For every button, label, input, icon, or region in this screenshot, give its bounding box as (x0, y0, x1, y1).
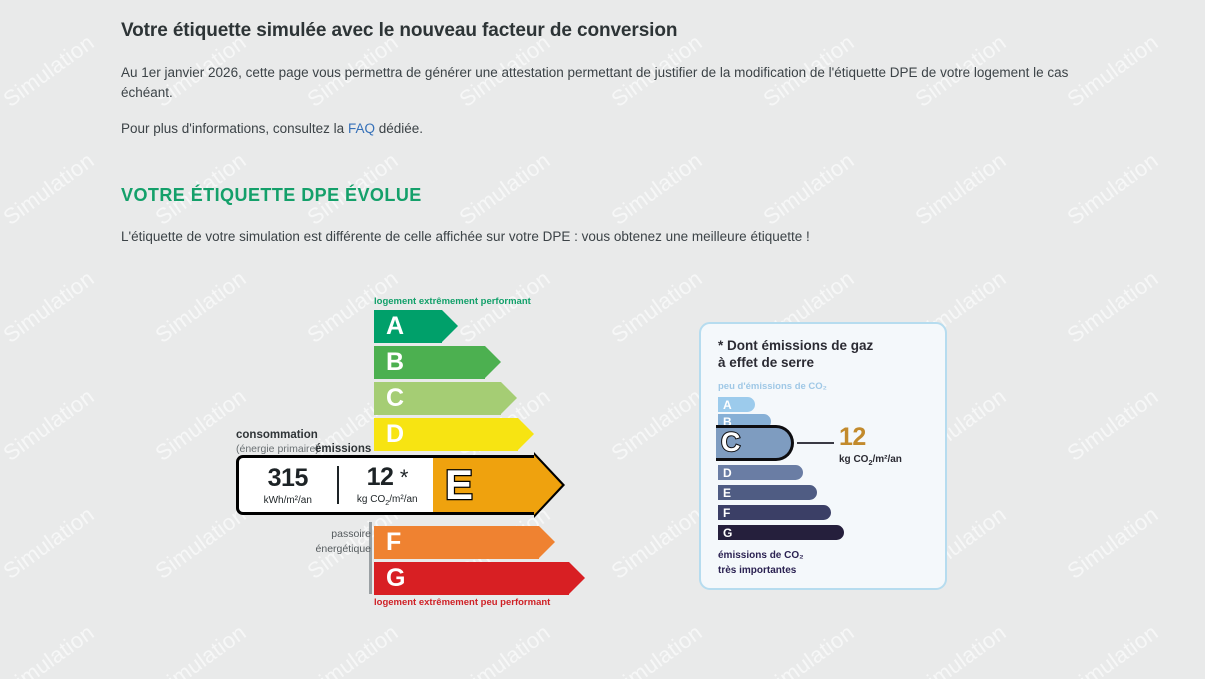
metric-consumption: 315 kWh/m²/an (239, 458, 337, 512)
dpe-energy-label: logement extrêmement performant A B C D … (231, 294, 651, 609)
text-content: Votre étiquette simulée avec le nouveau … (121, 0, 1111, 244)
co2-emissions-panel: * Dont émissions de gaz à effet de serre… (699, 322, 947, 590)
co2-unit: kg CO2/m²/an (839, 454, 902, 467)
energy-bar-f: F (374, 526, 555, 559)
label-consommation: consommation (236, 429, 318, 441)
page-title: Votre étiquette simulée avec le nouveau … (121, 20, 1111, 42)
energy-bar-e-arrow: E (433, 455, 561, 515)
consumption-unit: kWh/m²/an (264, 495, 312, 506)
passoire-line-1: passoire (293, 527, 371, 542)
section-heading: VOTRE ÉTIQUETTE DPE ÉVOLUE (121, 185, 1111, 206)
co2-bottom-note: émissions de CO₂ très importantes (718, 548, 804, 578)
metric-emissions: 12 * kg CO2/m²/an (339, 458, 437, 512)
faq-text-after: dédiée. (375, 121, 423, 136)
co2-bar-d: D (718, 465, 803, 480)
emissions-asterisk: * (400, 465, 408, 490)
energy-bar-e-highlighted: 315 kWh/m²/an 12 * kg CO2/m²/an E (236, 455, 561, 515)
energy-bar-label-f: F (386, 530, 401, 555)
co2-bar-label-f: F (723, 506, 730, 518)
energy-bar-g: G (374, 562, 585, 595)
energy-bar-b: B (374, 346, 501, 379)
co2-bar-g: G (718, 525, 844, 540)
energy-bar-a: A (374, 310, 458, 343)
co2-top-note: peu d'émissions de CO₂ (718, 381, 827, 392)
co2-leader-line (797, 442, 834, 444)
faq-paragraph: Pour plus d'informations, consultez la F… (121, 119, 1093, 139)
emissions-value: 12 * (367, 465, 408, 490)
energy-bar-label-a: A (386, 314, 404, 339)
passoire-label: passoire énergétique (293, 527, 371, 557)
co2-bar-f: F (718, 505, 831, 520)
energy-bar-label-d: D (386, 422, 404, 447)
co2-bar-a: A (718, 397, 755, 412)
scale-note-bottom: logement extrêmement peu performant (374, 597, 550, 608)
co2-value: 12 (839, 425, 866, 450)
label-emissions: émissions (315, 443, 371, 455)
energy-bar-d: D (374, 418, 534, 451)
energy-bar-c: C (374, 382, 517, 415)
faq-text-before: Pour plus d'informations, consultez la (121, 121, 348, 136)
energy-bar-label-g: G (386, 566, 405, 591)
energy-bar-label-e: E (445, 464, 473, 506)
co2-bar-label-g: G (723, 526, 732, 538)
intro-paragraph: Au 1er janvier 2026, cette page vous per… (121, 63, 1093, 103)
energy-bar-label-c: C (386, 386, 404, 411)
co2-bar-label-e: E (723, 486, 731, 498)
energy-bar-label-b: B (386, 350, 404, 375)
passoire-line-2: énergétique (293, 542, 371, 557)
consumption-value: 315 (268, 466, 308, 491)
co2-bar-label-c: C (721, 429, 741, 456)
faq-link[interactable]: FAQ (348, 121, 375, 136)
co2-bar-c-highlighted: C (716, 425, 794, 461)
emissions-unit: kg CO2/m²/an (357, 494, 418, 507)
co2-bar-label-d: D (723, 466, 732, 478)
co2-bar-label-a: A (723, 398, 732, 410)
co2-bar-e: E (718, 485, 817, 500)
co2-panel-title: * Dont émissions de gaz à effet de serre (718, 337, 873, 371)
label-consommation-sub: (énergie primaire) (236, 443, 319, 455)
section-subtext: L'étiquette de votre simulation est diff… (121, 229, 1111, 244)
metrics-box: 315 kWh/m²/an 12 * kg CO2/m²/an (236, 455, 436, 515)
scale-note-top: logement extrêmement performant (374, 296, 531, 307)
